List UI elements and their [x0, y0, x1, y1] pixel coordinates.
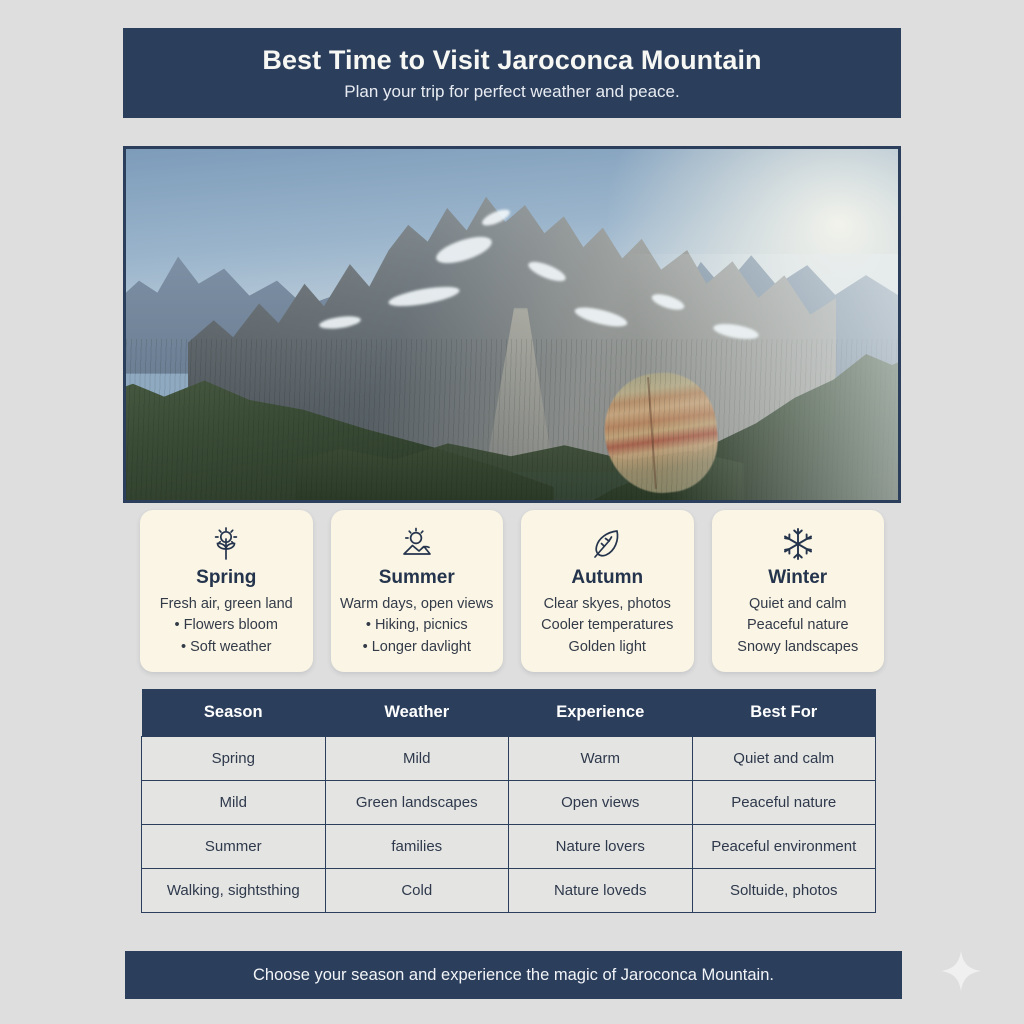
season-card-line: • Longer davlight: [363, 637, 471, 658]
table-cell: Cold: [325, 869, 509, 913]
season-card-line: Warm days, open views: [340, 594, 493, 615]
season-card-title: Autumn: [571, 567, 643, 589]
season-card-autumn[interactable]: Autumn Clear skyes, photos Cooler temper…: [521, 510, 694, 672]
table-cell: Spring: [142, 737, 326, 781]
table-cell: Soltuide, photos: [692, 869, 876, 913]
table-row: Mild Green landscapes Open views Peacefu…: [142, 781, 876, 825]
footer-text: Choose your season and experience the ma…: [253, 966, 774, 985]
table-cell: Nature lovers: [509, 825, 693, 869]
atmospheric-haze: [598, 254, 898, 500]
season-card-list: Spring Fresh air, green land • Flowers b…: [140, 510, 884, 672]
season-card-line: Cooler temperatures: [541, 615, 673, 636]
season-card-line: Snowy landscapes: [737, 637, 858, 658]
table-row: Summer families Nature lovers Peaceful e…: [142, 825, 876, 869]
sparkle-icon: [938, 948, 984, 994]
snowflake-icon: [778, 524, 818, 564]
flower-sun-icon: [206, 524, 246, 564]
footer-banner: Choose your season and experience the ma…: [125, 951, 902, 999]
table-cell: families: [325, 825, 509, 869]
table-column-header: Best For: [692, 689, 876, 737]
page-title: Best Time to Visit Jaroconca Mountain: [262, 45, 761, 76]
table-column-header: Season: [142, 689, 326, 737]
table-column-header: Weather: [325, 689, 509, 737]
table-header-row: Season Weather Experience Best For: [142, 689, 876, 737]
table-cell: Open views: [509, 781, 693, 825]
table-cell: Mild: [325, 737, 509, 781]
table-cell: Nature loveds: [509, 869, 693, 913]
season-card-line: Peaceful nature: [747, 615, 849, 636]
season-card-spring[interactable]: Spring Fresh air, green land • Flowers b…: [140, 510, 313, 672]
season-card-line: • Soft weather: [181, 637, 272, 658]
infographic-page: Best Time to Visit Jaroconca Mountain Pl…: [0, 0, 1024, 1024]
season-card-line: Quiet and calm: [749, 594, 847, 615]
table-column-header: Experience: [509, 689, 693, 737]
season-card-line: • Hiking, picnics: [366, 615, 468, 636]
table-cell: Walking, sightsthing: [142, 869, 326, 913]
table-cell: Mild: [142, 781, 326, 825]
table-cell: Peaceful environment: [692, 825, 876, 869]
season-card-line: • Flowers bloom: [175, 615, 278, 636]
header-banner: Best Time to Visit Jaroconca Mountain Pl…: [123, 28, 901, 118]
table-cell: Warm: [509, 737, 693, 781]
season-card-title: Summer: [379, 567, 455, 589]
table-cell: Green landscapes: [325, 781, 509, 825]
leaf-icon: [587, 524, 627, 564]
table-row: Spring Mild Warm Quiet and calm: [142, 737, 876, 781]
page-subtitle: Plan your trip for perfect weather and p…: [344, 82, 679, 102]
season-card-line: Clear skyes, photos: [544, 594, 671, 615]
season-card-title: Winter: [768, 567, 827, 589]
table-cell: Peaceful nature: [692, 781, 876, 825]
table-cell: Summer: [142, 825, 326, 869]
season-card-line: Golden light: [569, 637, 646, 658]
season-card-winter[interactable]: Winter Quiet and calm Peaceful nature Sn…: [712, 510, 885, 672]
table-row: Walking, sightsthing Cold Nature loveds …: [142, 869, 876, 913]
sun-landscape-icon: [397, 524, 437, 564]
season-card-summer[interactable]: Summer Warm days, open views • Hiking, p…: [331, 510, 504, 672]
season-card-title: Spring: [196, 567, 256, 589]
hero-illustration: [126, 149, 898, 500]
mountain-hero-image: [123, 146, 901, 503]
table-cell: Quiet and calm: [692, 737, 876, 781]
season-comparison-table: Season Weather Experience Best For Sprin…: [141, 689, 876, 913]
season-card-line: Fresh air, green land: [160, 594, 293, 615]
